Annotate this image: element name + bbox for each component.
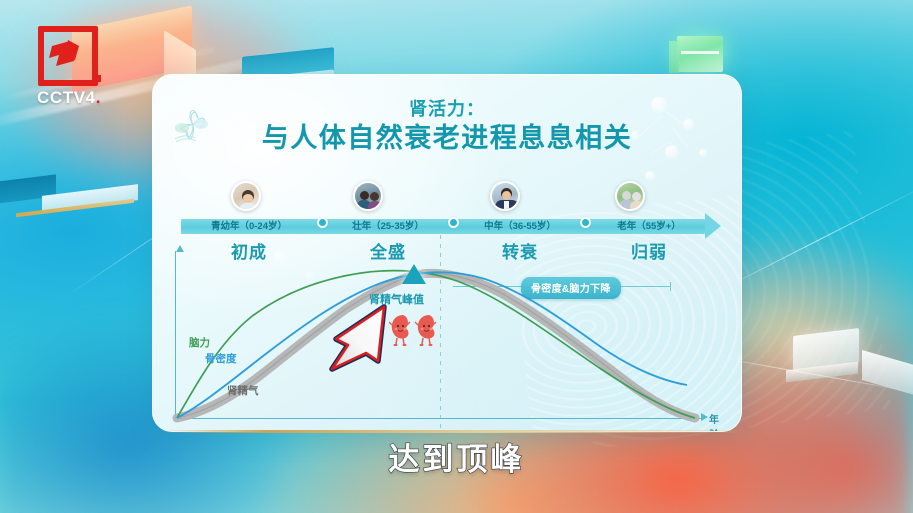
logo-text: CCTV4. xyxy=(37,88,101,108)
content-card: 肾活力： 与人体自然衰老进程息息相关 xyxy=(152,74,742,432)
avatar-businessman xyxy=(490,181,520,211)
timeline-dot-3 xyxy=(580,217,591,228)
timeline-dot-2 xyxy=(448,217,459,228)
timeline-label-stage-2: 壮年（25-35岁） xyxy=(329,219,447,234)
avatar-elderly-couple xyxy=(615,181,645,211)
card-gold-underline xyxy=(160,430,742,433)
logo-text-dot: . xyxy=(96,88,101,107)
title-line-1: 肾活力： xyxy=(153,97,741,121)
triangle-marker-icon xyxy=(402,264,426,284)
timeline-label-stage-4: 老年（55岁+） xyxy=(593,219,705,234)
screenshot-root: CCTV4. xyxy=(0,0,913,513)
series-label-shenjingqi: 肾精气 xyxy=(227,383,259,398)
cctv4-logo: CCTV4. xyxy=(38,26,104,108)
aging-curve-chart: 年龄 脑力 骨密度 肾精气 肾精气峰值 xyxy=(171,251,727,423)
avatar-young-couple xyxy=(353,181,383,211)
series-label-gumidu: 骨密度 xyxy=(205,351,237,366)
card-title: 肾活力： 与人体自然衰老进程息息相关 xyxy=(153,97,741,156)
timeline-dot-1 xyxy=(317,217,328,228)
avatar-child xyxy=(231,181,261,211)
timeline-arrow-icon xyxy=(705,213,721,239)
timeline-label-stage-1: 青幼年（0-24岁） xyxy=(181,219,317,234)
timeline-label-stage-3: 中年（36-55岁） xyxy=(461,219,579,234)
cursor-arrow-icon[interactable] xyxy=(326,299,398,375)
decorative-cube-green xyxy=(677,36,723,72)
series-label-naoli: 脑力 xyxy=(189,335,210,350)
title-line-2: 与人体自然衰老进程息息相关 xyxy=(153,121,741,156)
logo-corner-dot xyxy=(94,75,101,82)
logo-glyph-icon xyxy=(48,36,88,76)
logo-channel-text: CCTV4 xyxy=(37,88,96,107)
stage-avatars xyxy=(153,181,741,223)
subtitle-caption: 达到顶峰 xyxy=(0,434,913,479)
